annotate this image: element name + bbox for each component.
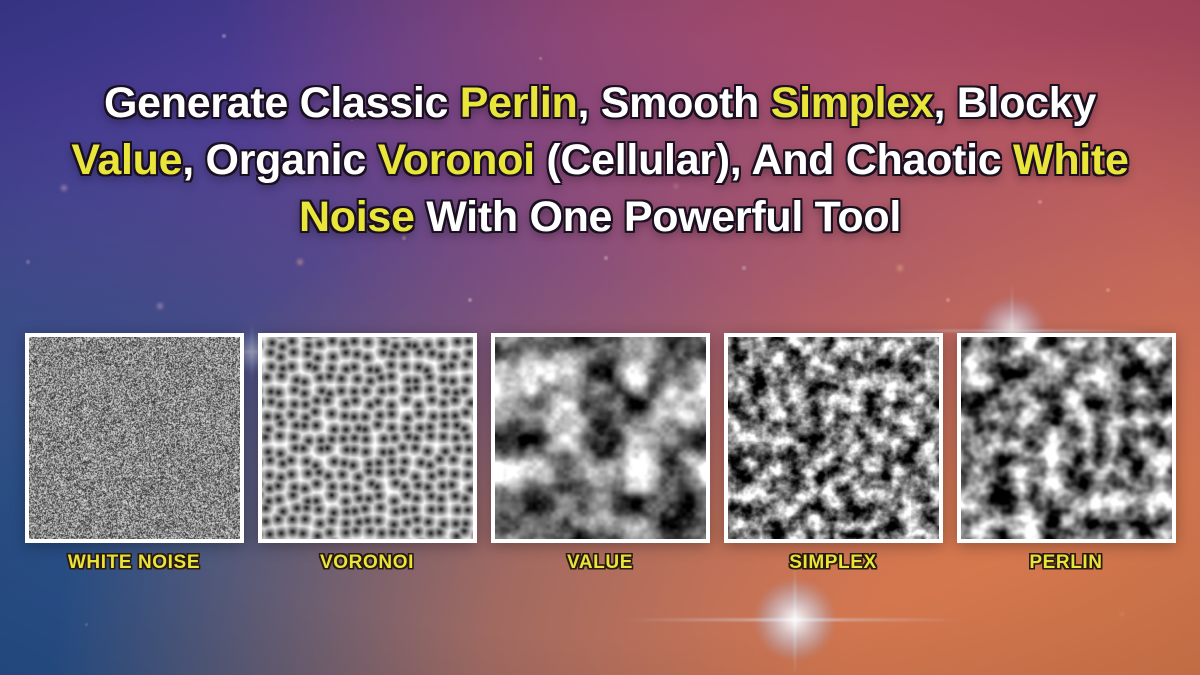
noise-sample-voronoi[interactable]: VORONOI: [258, 333, 477, 574]
title-text: Generate Classic: [104, 79, 460, 127]
noise-sample-white[interactable]: WHITE NOISE: [25, 333, 244, 574]
title-highlight: Simplex: [771, 79, 934, 127]
noise-sample-row: WHITE NOISEVORONOIVALUESIMPLEXPERLIN: [0, 333, 1200, 574]
promo-banner: Generate Classic Perlin, Smooth Simplex,…: [0, 0, 1200, 675]
title-line-1: Generate Classic Perlin, Smooth Simplex,…: [18, 75, 1182, 132]
noise-label-white: WHITE NOISE: [68, 552, 200, 574]
noise-sample-simplex[interactable]: SIMPLEX: [724, 333, 943, 574]
noise-label-simplex: SIMPLEX: [789, 552, 877, 574]
noise-label-value: VALUE: [567, 552, 633, 574]
noise-canvas-white: [29, 337, 240, 539]
noise-canvas-value: [495, 337, 706, 539]
noise-canvas-simplex: [728, 337, 939, 539]
noise-preview-perlin[interactable]: [957, 333, 1176, 543]
title-highlight: Value: [71, 136, 182, 184]
title-highlight: Noise: [299, 193, 415, 241]
title-text: With One Powerful Tool: [415, 193, 901, 241]
title-line-3: Noise With One Powerful Tool: [18, 189, 1182, 246]
noise-label-voronoi: VORONOI: [320, 552, 414, 574]
title-text: , Blocky: [934, 79, 1097, 127]
page-title: Generate Classic Perlin, Smooth Simplex,…: [0, 75, 1200, 247]
title-text: (Cellular), And Chaotic: [535, 136, 1013, 184]
noise-sample-value[interactable]: VALUE: [491, 333, 710, 574]
title-line-2: Value, Organic Voronoi (Cellular), And C…: [18, 132, 1182, 189]
noise-preview-value[interactable]: [491, 333, 710, 543]
noise-sample-perlin[interactable]: PERLIN: [957, 333, 1176, 574]
title-highlight: White: [1013, 136, 1129, 184]
noise-preview-white[interactable]: [25, 333, 244, 543]
noise-label-perlin: PERLIN: [1029, 552, 1102, 574]
noise-preview-simplex[interactable]: [724, 333, 943, 543]
title-highlight: Perlin: [460, 79, 578, 127]
title-text: , Organic: [182, 136, 377, 184]
title-text: , Smooth: [578, 79, 771, 127]
noise-canvas-perlin: [961, 337, 1172, 539]
title-highlight: Voronoi: [378, 136, 535, 184]
noise-preview-voronoi[interactable]: [258, 333, 477, 543]
noise-canvas-voronoi: [262, 337, 473, 539]
